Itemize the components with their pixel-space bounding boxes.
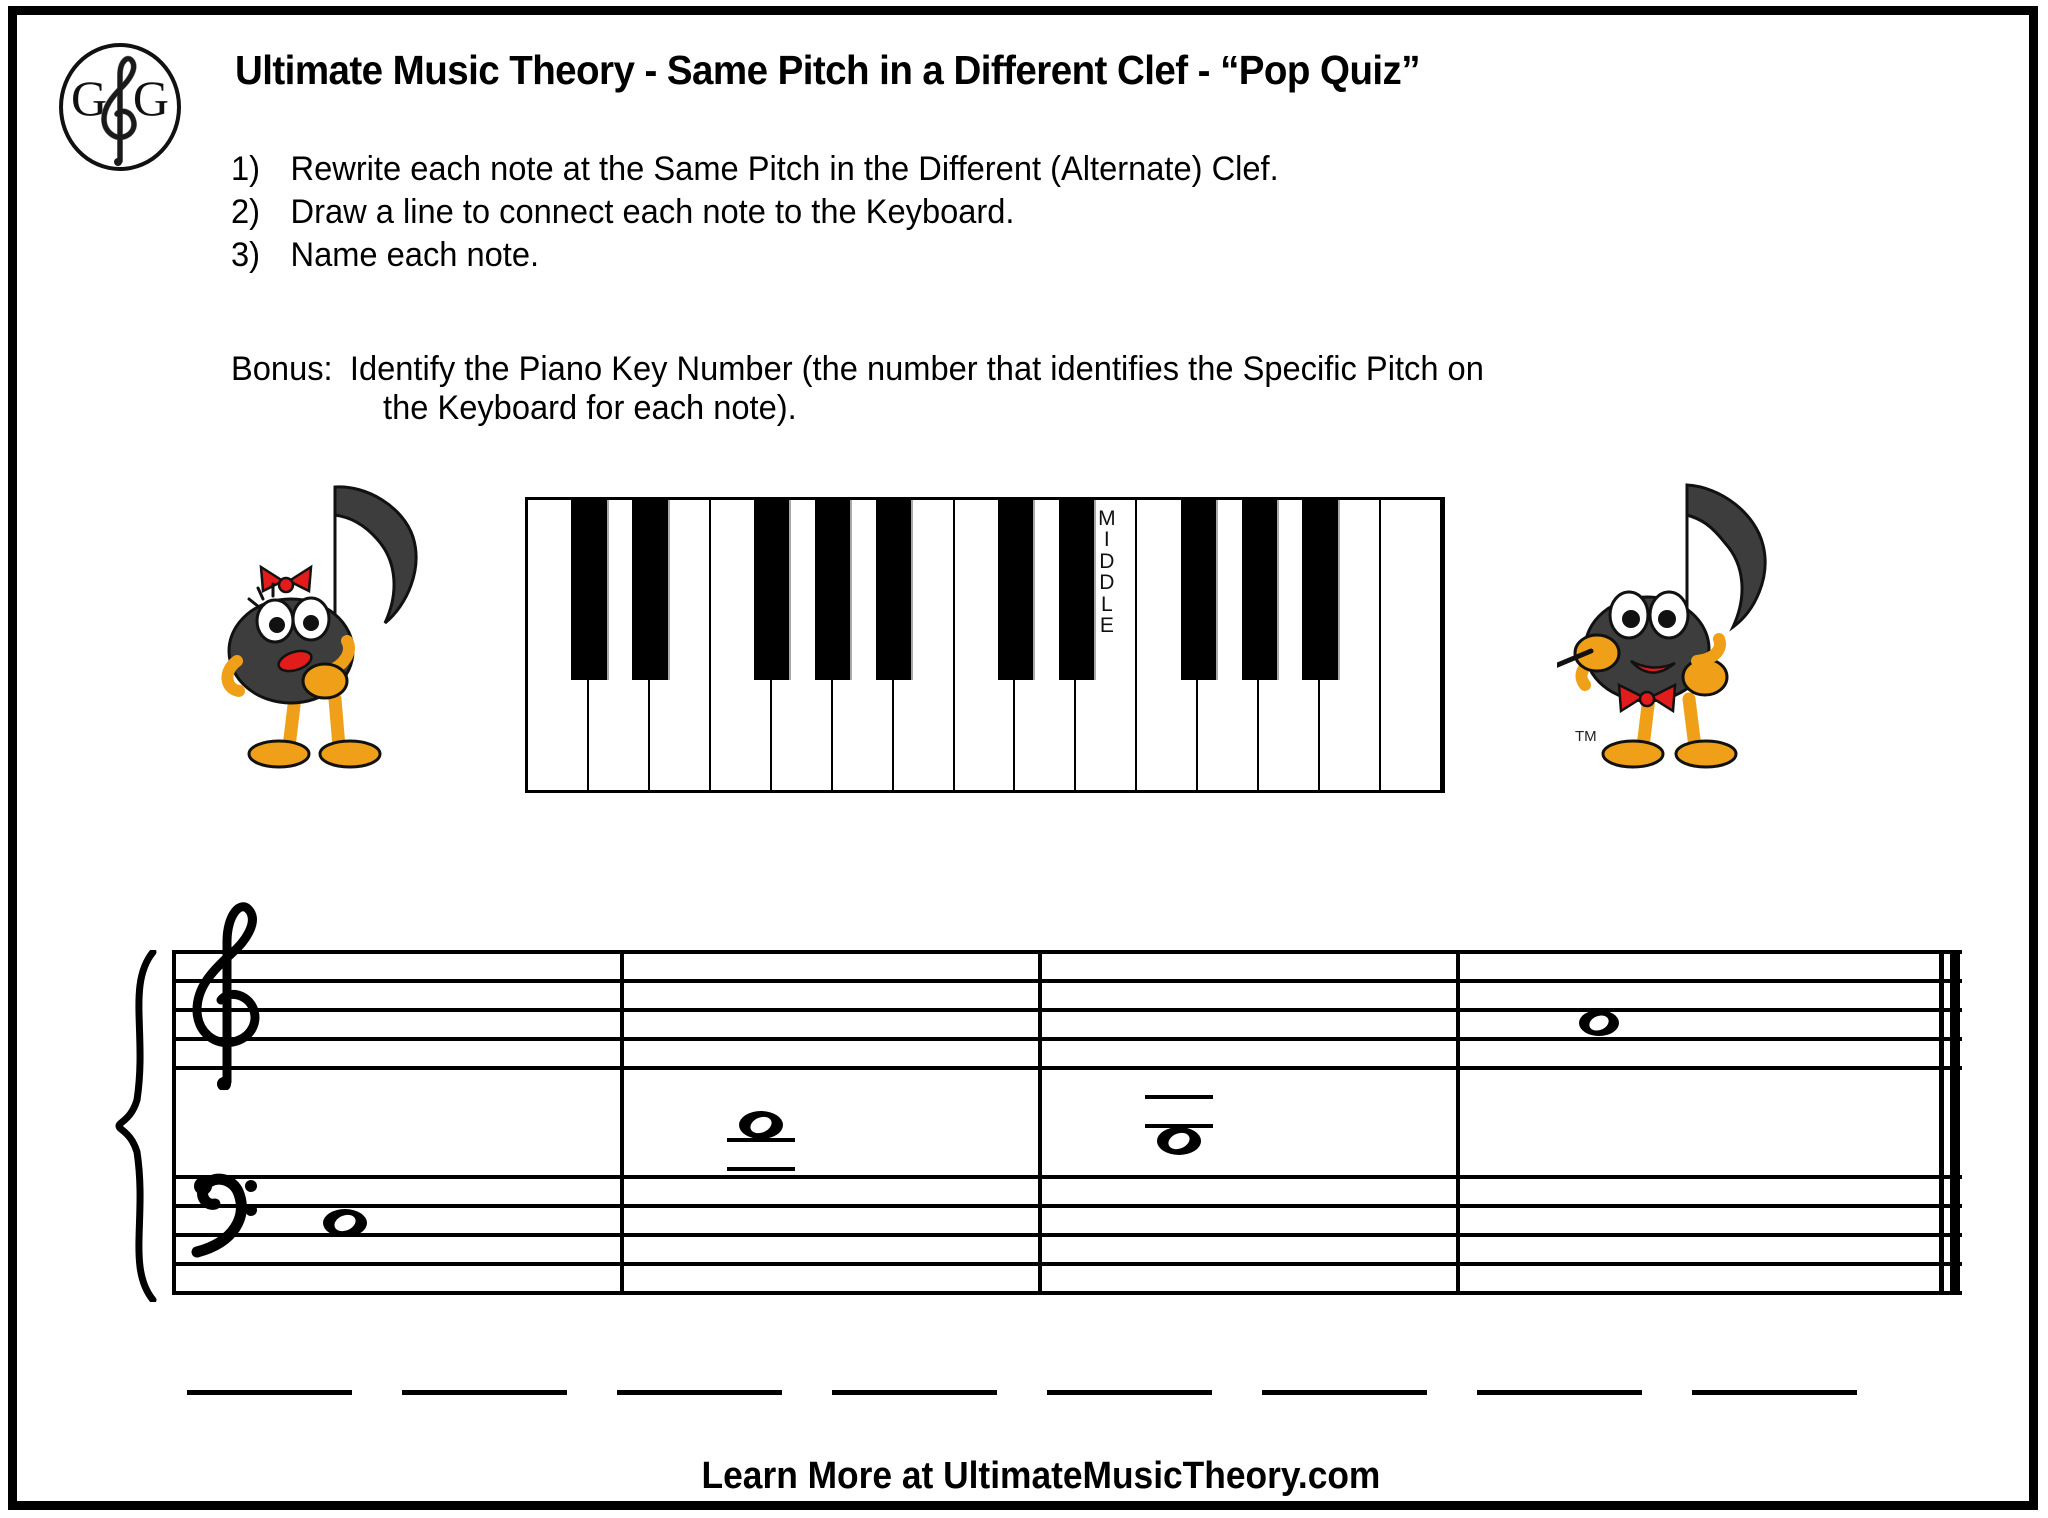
ledger-line — [727, 1167, 795, 1171]
answer-blank-line[interactable] — [1477, 1390, 1642, 1395]
page-border-frame: G G Ultimate Music Theory - Same Pitch i… — [8, 6, 2038, 1510]
staff-connector-barline — [172, 950, 176, 1295]
answer-blank-line[interactable] — [832, 1390, 997, 1395]
piano-keyboard[interactable]: MIDDLE — [525, 497, 1445, 793]
middle-c-label-letter: L — [1080, 594, 1133, 615]
barline — [1038, 950, 1042, 1295]
answer-blank-line[interactable] — [1262, 1390, 1427, 1395]
middle-c-label-letter: I — [1080, 529, 1133, 550]
middle-c-label-letter: D — [1080, 551, 1133, 572]
middle-c-label-letter: D — [1080, 572, 1133, 593]
final-barline-thin — [1939, 950, 1944, 1295]
piano-black-key[interactable] — [1181, 500, 1216, 680]
instruction-number: 2) — [231, 193, 291, 232]
instruction-item: 3) Name each note. — [231, 236, 1882, 275]
bass-clef-icon — [183, 1166, 269, 1269]
grand-staff — [77, 900, 1957, 1335]
piano-black-key[interactable] — [1302, 500, 1337, 680]
piano-white-key[interactable] — [1381, 500, 1442, 790]
bass-staff — [172, 1175, 1962, 1295]
instruction-number: 1) — [231, 150, 291, 189]
hair-bow-icon — [261, 567, 311, 592]
piano-black-key[interactable] — [1242, 500, 1277, 680]
staff-brace — [107, 950, 165, 1307]
bonus-first-row: Bonus: Identify the Piano Key Number (th… — [231, 350, 1921, 389]
treble-clef-icon — [181, 890, 273, 1093]
bonus-text-line-2: the Keyboard for each note). — [383, 389, 1927, 428]
piano-black-key[interactable] — [998, 500, 1033, 680]
treble-clef-icon — [94, 49, 146, 172]
piano-black-key[interactable] — [754, 500, 789, 680]
instruction-number: 3) — [231, 236, 291, 275]
eighth-note-girl-mascot — [217, 465, 447, 775]
worksheet-page: G G Ultimate Music Theory - Same Pitch i… — [0, 0, 2048, 1518]
bonus-section: Bonus: Identify the Piano Key Number (th… — [231, 350, 1991, 428]
answer-blank-line[interactable] — [187, 1390, 352, 1395]
instruction-text: Name each note. — [291, 236, 1883, 275]
answer-blank-line[interactable] — [1047, 1390, 1212, 1395]
piano-black-key[interactable] — [632, 500, 667, 680]
whole-note-measure-3 — [1155, 1124, 1203, 1163]
piano-black-key[interactable] — [876, 500, 911, 680]
eighth-note-boy-mascot: TM — [1557, 465, 1807, 775]
barline — [620, 950, 624, 1295]
middle-c-label-letter: E — [1080, 615, 1133, 636]
footer-label: Learn More at UltimateMusicTheory.com — [702, 1455, 1381, 1498]
trademark-mark: TM — [1575, 728, 1597, 745]
whole-note-measure-2 — [737, 1108, 785, 1147]
treble-staff — [172, 950, 1962, 1070]
whole-note-measure-4 — [1577, 1007, 1621, 1044]
middle-c-label: MIDDLE — [1080, 508, 1133, 636]
instruction-item: 2) Draw a line to connect each note to t… — [231, 193, 1882, 232]
barline — [1456, 950, 1460, 1295]
answer-blank-line[interactable] — [1692, 1390, 1857, 1395]
instruction-text: Rewrite each note at the Same Pitch in t… — [291, 150, 1883, 189]
answer-blank-line[interactable] — [617, 1390, 782, 1395]
ultimate-music-theory-logo: G G — [59, 43, 181, 171]
page-title: Ultimate Music Theory - Same Pitch in a … — [235, 47, 1833, 94]
ledger-line — [1145, 1095, 1213, 1099]
piano-black-key[interactable] — [815, 500, 850, 680]
answer-blank-line[interactable] — [402, 1390, 567, 1395]
footer-text: Learn More at UltimateMusicTheory.com — [17, 1455, 2048, 1498]
bonus-label: Bonus: — [231, 350, 350, 389]
final-barline-thick — [1950, 950, 1960, 1295]
bonus-text-line-1: Identify the Piano Key Number (the numbe… — [350, 350, 1921, 389]
instructions-list: 1) Rewrite each note at the Same Pitch i… — [231, 150, 1951, 278]
instruction-text: Draw a line to connect each note to the … — [291, 193, 1883, 232]
piano-black-key[interactable] — [571, 500, 606, 680]
instruction-item: 1) Rewrite each note at the Same Pitch i… — [231, 150, 1882, 189]
whole-note-measure-1 — [321, 1206, 369, 1245]
middle-c-label-letter: M — [1080, 508, 1133, 529]
